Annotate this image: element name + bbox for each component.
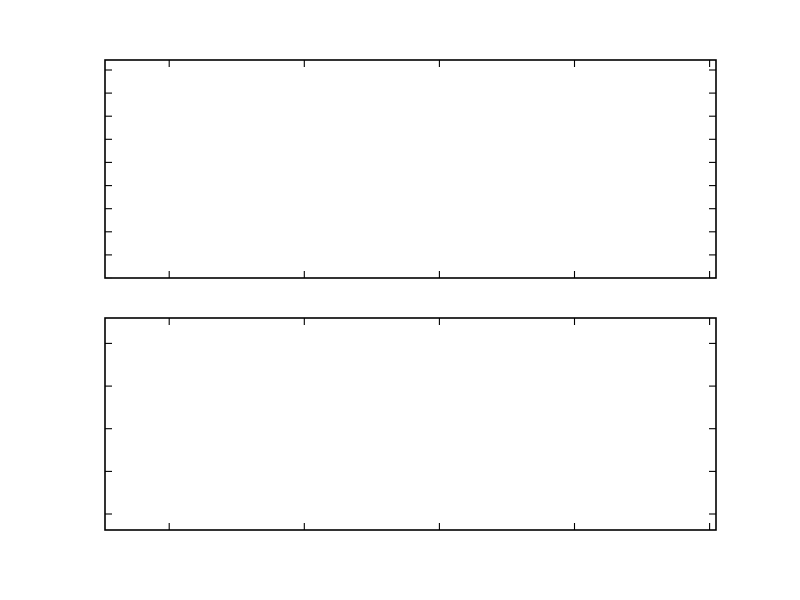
- offset-plot-frame: [105, 60, 716, 278]
- figure-canvas: [0, 0, 800, 600]
- chart-svg: [0, 0, 800, 600]
- drift-panel: [105, 318, 716, 530]
- drift-plot-frame: [105, 318, 716, 530]
- offset-panel: [105, 60, 716, 278]
